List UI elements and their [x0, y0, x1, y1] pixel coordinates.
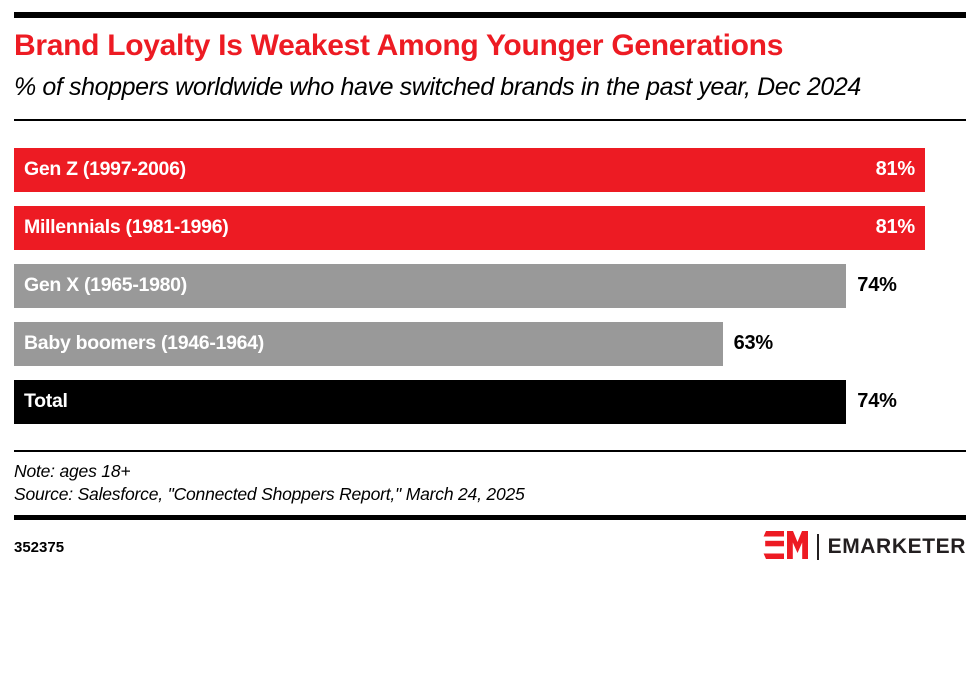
chart-notes: Note: ages 18+ Source: Salesforce, "Conn…	[14, 460, 966, 506]
bar-row: Millennials (1981-1996)81%	[14, 206, 966, 250]
bar[interactable]: Gen Z (1997-2006)81%	[14, 148, 925, 192]
note-line: Note: ages 18+	[14, 460, 966, 483]
bar[interactable]: Gen X (1965-1980)	[14, 264, 846, 308]
bar-value-label: 81%	[876, 206, 915, 250]
notes-divider	[14, 450, 966, 452]
em-monogram-icon	[762, 531, 808, 564]
bar[interactable]: Millennials (1981-1996)81%	[14, 206, 925, 250]
bar-category-label: Gen X (1965-1980)	[14, 274, 187, 297]
header-divider	[14, 119, 966, 121]
bar-row: Baby boomers (1946-1964)63%	[14, 322, 966, 366]
bar-category-label: Gen Z (1997-2006)	[14, 158, 186, 181]
chart-id: 352375	[14, 539, 64, 556]
bar-row: Total74%	[14, 380, 966, 424]
footer-divider	[14, 515, 966, 520]
bar-row: Gen X (1965-1980)74%	[14, 264, 966, 308]
bar-value-label: 74%	[846, 264, 896, 308]
bar-value-label: 81%	[876, 148, 915, 192]
top-rule	[14, 12, 966, 18]
emarketer-logo[interactable]: EMARKETER	[762, 531, 966, 564]
bar[interactable]: Baby boomers (1946-1964)	[14, 322, 723, 366]
chart-card: Brand Loyalty Is Weakest Among Younger G…	[0, 12, 980, 679]
bar-value-label: 63%	[723, 322, 773, 366]
bar-chart-plot: Gen Z (1997-2006)81%Millennials (1981-19…	[14, 148, 966, 424]
bar-category-label: Baby boomers (1946-1964)	[14, 332, 264, 355]
chart-title: Brand Loyalty Is Weakest Among Younger G…	[14, 29, 814, 64]
chart-subtitle: % of shoppers worldwide who have switche…	[14, 72, 944, 102]
chart-header: Brand Loyalty Is Weakest Among Younger G…	[14, 29, 966, 102]
chart-footer: 352375 EMARKETER	[14, 531, 966, 564]
bar[interactable]: Total	[14, 380, 846, 424]
bar-category-label: Millennials (1981-1996)	[14, 216, 228, 239]
bar-row: Gen Z (1997-2006)81%	[14, 148, 966, 192]
bar-category-label: Total	[14, 390, 68, 413]
source-line: Source: Salesforce, "Connected Shoppers …	[14, 483, 966, 506]
bar-value-label: 74%	[846, 380, 896, 424]
brand-name: EMARKETER	[828, 535, 966, 559]
logo-divider	[817, 534, 819, 560]
